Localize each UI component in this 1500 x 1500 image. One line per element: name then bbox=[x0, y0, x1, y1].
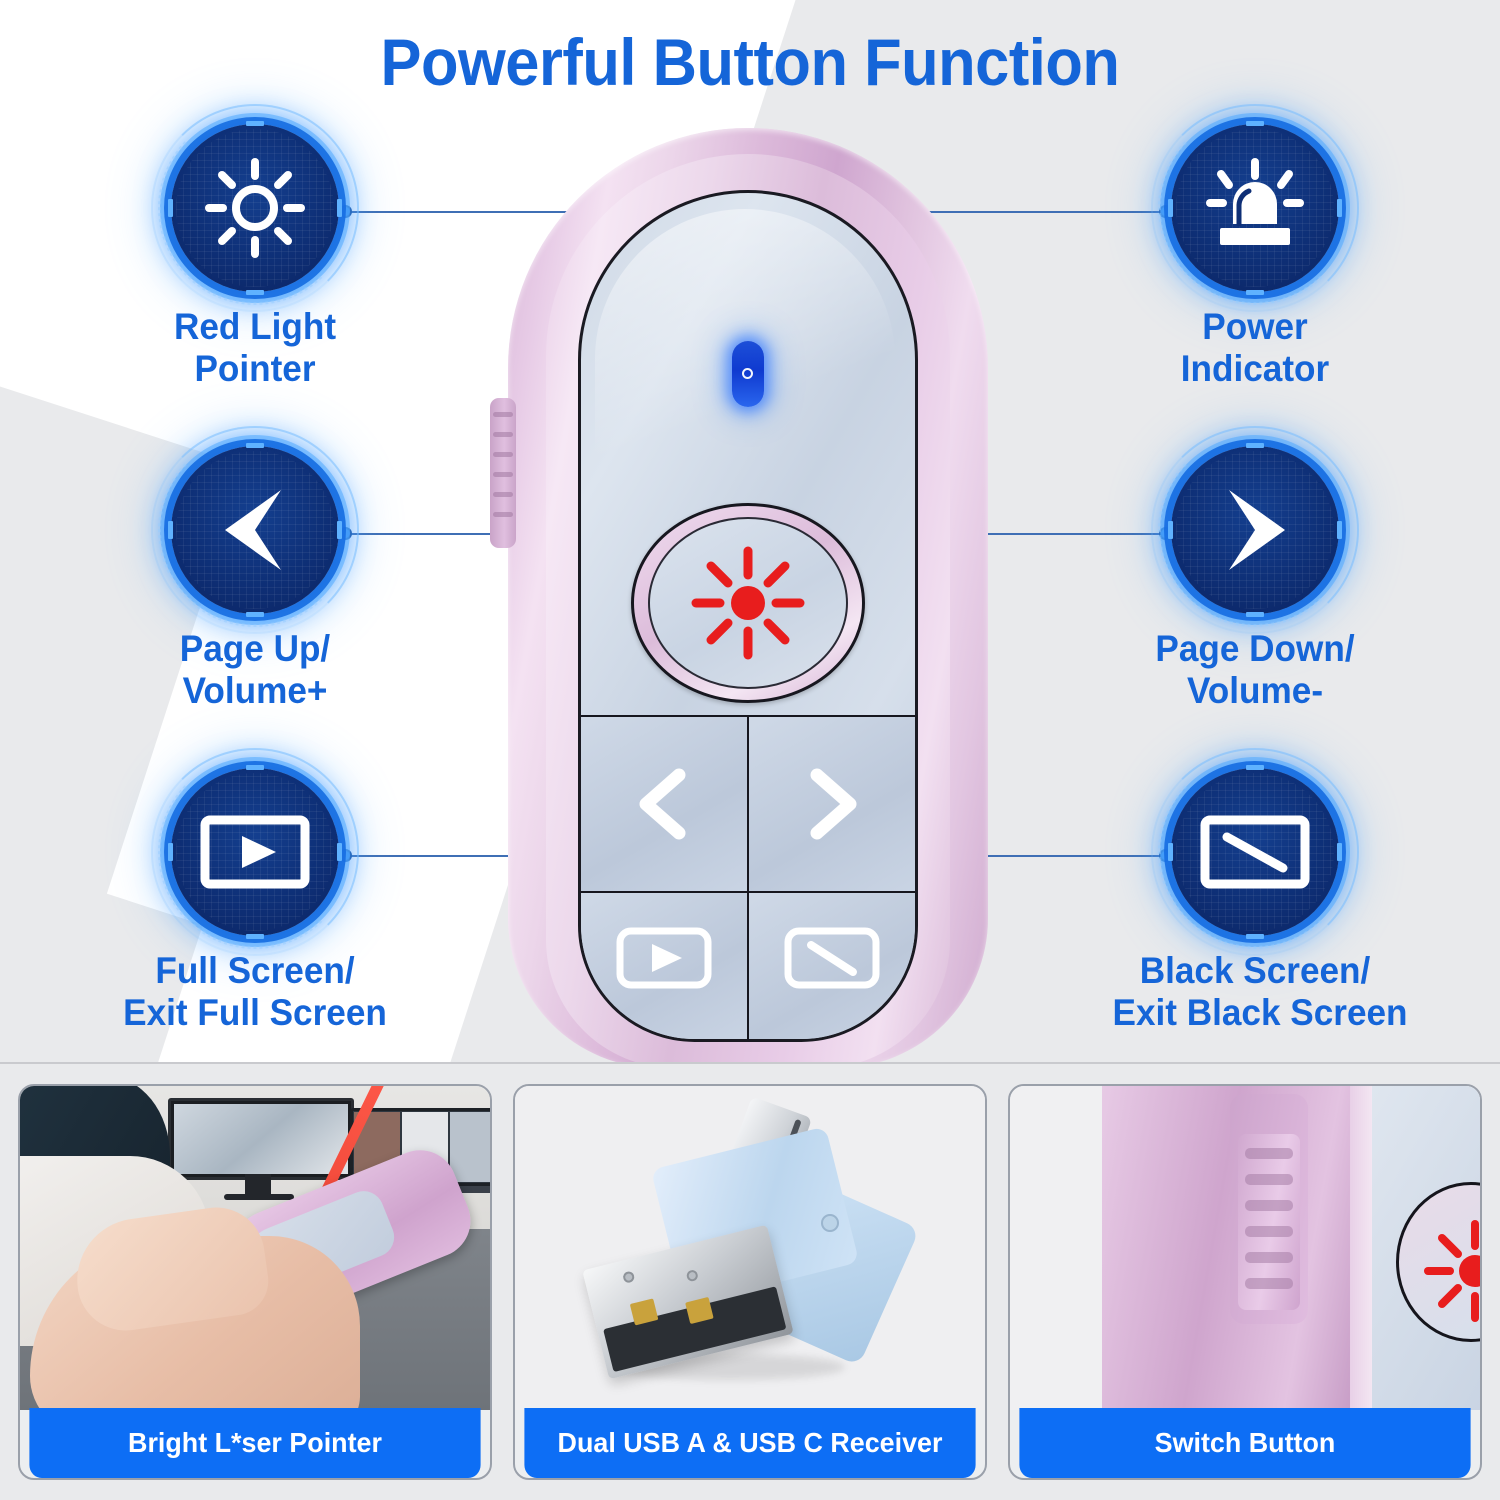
prev-button[interactable] bbox=[581, 717, 749, 893]
feature-label-black-screen-toggle: Black Screen/ Exit Black Screen bbox=[1113, 950, 1398, 1034]
badge-page-down-volume-down bbox=[1171, 446, 1339, 614]
device-faceplate bbox=[578, 190, 918, 1042]
blackscreen-button[interactable] bbox=[749, 893, 915, 1041]
switch-button-photo bbox=[1010, 1086, 1480, 1410]
feature-black-screen-toggle[interactable]: Black Screen/ Exit Black Screen bbox=[1105, 768, 1405, 1034]
power-led-indicator bbox=[732, 341, 764, 407]
top-stage: Powerful Button Function bbox=[0, 0, 1500, 1062]
feature-label-red-light-pointer: Red Light Pointer bbox=[113, 306, 398, 390]
feature-label-line1: Page Up/ bbox=[180, 628, 330, 669]
badge-red-light-pointer bbox=[171, 124, 339, 292]
feature-label-line1: Power bbox=[1202, 306, 1307, 347]
play-in-screen-icon bbox=[200, 815, 310, 889]
usb-receiver-photo bbox=[515, 1086, 985, 1410]
feature-label-full-screen-toggle: Full Screen/ Exit Full Screen bbox=[113, 950, 398, 1034]
feature-label-line1: Full Screen/ bbox=[155, 950, 354, 991]
page-title: Powerful Button Function bbox=[53, 24, 1448, 100]
feature-label-line1: Black Screen/ bbox=[1140, 950, 1371, 991]
red-laser-burst-icon bbox=[684, 539, 812, 667]
usb-receiver-caption: Dual USB A & USB C Receiver bbox=[524, 1408, 975, 1478]
button-pad bbox=[581, 717, 915, 1041]
feature-power-indicator[interactable]: Power Indicator bbox=[1105, 124, 1405, 390]
feature-full-screen-toggle[interactable]: Full Screen/ Exit Full Screen bbox=[105, 768, 405, 1034]
laser-pointer-caption: Bright L*ser Pointer bbox=[29, 1408, 480, 1478]
next-button[interactable] bbox=[749, 717, 915, 893]
chevron-left-icon bbox=[621, 761, 707, 847]
presenter-device bbox=[468, 128, 1028, 1062]
usb-receiver-card[interactable]: Dual USB A & USB C Receiver bbox=[513, 1084, 987, 1480]
feature-label-line1: Page Down/ bbox=[1155, 628, 1354, 669]
feature-label-page-up-volume-up: Page Up/ Volume+ bbox=[113, 628, 398, 712]
laser-pointer-card[interactable]: Bright L*ser Pointer bbox=[18, 1084, 492, 1480]
feature-label-line2: Exit Full Screen bbox=[113, 992, 398, 1034]
badge-full-screen-toggle bbox=[171, 768, 339, 936]
feature-label-line2: Pointer bbox=[113, 348, 398, 390]
feature-label-line1: Red Light bbox=[174, 306, 336, 347]
feature-label-line2: Volume+ bbox=[113, 670, 398, 712]
gallery-strip: Bright L*ser Pointer bbox=[0, 1062, 1500, 1500]
siren-beacon-icon bbox=[1201, 156, 1309, 260]
slash-rect-icon bbox=[784, 927, 880, 989]
monitor-in-photo bbox=[168, 1098, 354, 1180]
device-shell-closeup bbox=[1102, 1086, 1352, 1410]
gallery-divider bbox=[0, 1062, 1500, 1064]
feature-red-light-pointer[interactable]: Red Light Pointer bbox=[105, 124, 405, 390]
play-triangle-icon bbox=[616, 927, 712, 989]
feature-label-line2: Exit Black Screen bbox=[1113, 992, 1398, 1034]
feature-page-down-volume-down[interactable]: Page Down/ Volume- bbox=[1105, 446, 1405, 712]
feature-page-up-volume-up[interactable]: Page Up/ Volume+ bbox=[105, 446, 405, 712]
sun-brightness-icon bbox=[201, 154, 309, 262]
feature-label-page-down-volume-down: Page Down/ Volume- bbox=[1113, 628, 1398, 712]
infographic-page: Powerful Button Function bbox=[0, 0, 1500, 1500]
feature-label-power-indicator: Power Indicator bbox=[1113, 306, 1398, 390]
chevron-left-icon bbox=[199, 474, 311, 586]
chevron-right-icon bbox=[1199, 474, 1311, 586]
fullscreen-button[interactable] bbox=[581, 893, 749, 1041]
feature-label-line2: Indicator bbox=[1113, 348, 1398, 390]
slide-switch-closeup bbox=[1238, 1134, 1300, 1310]
switch-button-card[interactable]: Switch Button bbox=[1008, 1084, 1482, 1480]
feature-label-line2: Volume- bbox=[1113, 670, 1398, 712]
badge-black-screen-toggle bbox=[1171, 768, 1339, 936]
laser-pointer-photo bbox=[20, 1086, 490, 1410]
slashed-screen-icon bbox=[1200, 815, 1310, 889]
badge-power-indicator bbox=[1171, 124, 1339, 292]
badge-page-up-volume-up bbox=[171, 446, 339, 614]
swivel-pivot bbox=[821, 1214, 839, 1232]
laser-button[interactable] bbox=[648, 517, 848, 689]
red-laser-burst-icon bbox=[1420, 1216, 1480, 1326]
switch-button-caption: Switch Button bbox=[1019, 1408, 1470, 1478]
chevron-right-icon bbox=[789, 761, 875, 847]
power-slide-switch[interactable] bbox=[490, 398, 516, 548]
